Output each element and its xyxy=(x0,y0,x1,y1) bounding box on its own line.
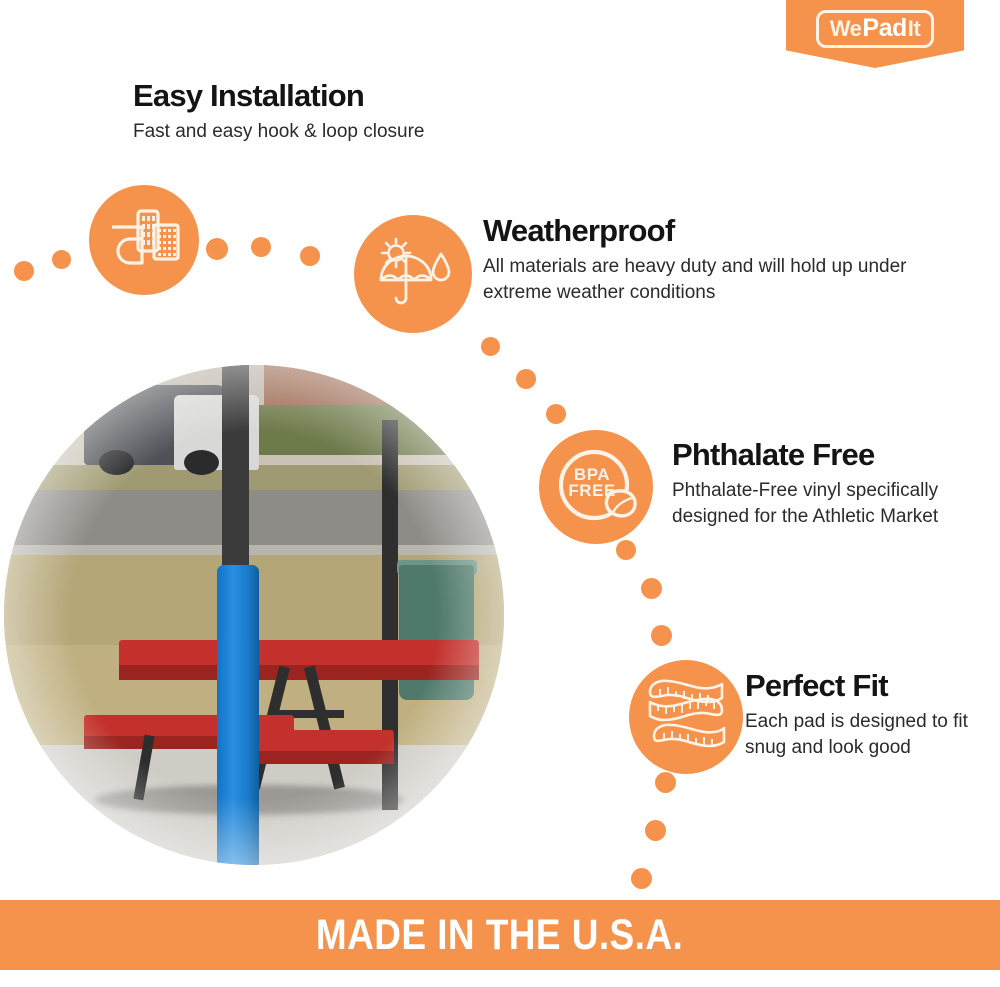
feature-heading-easy-installation: Easy Installation xyxy=(133,79,553,113)
feature-icon-circle-easy-installation xyxy=(89,185,199,295)
connector-dot xyxy=(481,337,500,356)
connector-dot xyxy=(616,540,636,560)
connector-dot xyxy=(14,261,34,281)
connector-dot xyxy=(631,868,652,889)
feature-text-phthalate-free: Phthalate Free Phthalate-Free vinyl spec… xyxy=(672,438,972,529)
feature-text-weatherproof: Weatherproof All materials are heavy dut… xyxy=(483,214,913,305)
bpa-free-icon-label-line2: FREE xyxy=(568,481,615,500)
brand-logo-banner: We Pad It xyxy=(786,0,964,68)
logo-text-it: It xyxy=(908,18,920,40)
feature-icon-circle-weatherproof xyxy=(354,215,472,333)
connector-dot xyxy=(52,250,71,269)
connector-dot xyxy=(655,772,676,793)
feature-subtitle-weatherproof: All materials are heavy duty and will ho… xyxy=(483,254,913,305)
feature-text-perfect-fit: Perfect Fit Each pad is designed to fit … xyxy=(745,669,985,760)
made-in-usa-banner: MADE IN THE U.S.A. xyxy=(0,900,1000,970)
connector-dot xyxy=(300,246,320,266)
connector-dot xyxy=(641,578,662,599)
feature-subtitle-phthalate-free: Phthalate-Free vinyl specifically design… xyxy=(672,478,972,529)
feature-icon-circle-phthalate-free: BPA FREE xyxy=(539,430,653,544)
logo-text-pad: Pad xyxy=(861,16,907,41)
infographic-page: We Pad It Easy Installation Fast and eas… xyxy=(0,0,1000,987)
feature-icon-circle-perfect-fit xyxy=(629,660,743,774)
connector-dot xyxy=(516,369,536,389)
made-in-usa-text: MADE IN THE U.S.A. xyxy=(316,911,683,960)
logo-text-we: We xyxy=(830,18,862,40)
tape-measure-icon xyxy=(644,676,728,759)
connector-dot xyxy=(651,625,672,646)
photo-edge-vignette xyxy=(4,365,504,865)
product-photo xyxy=(4,365,504,865)
sun-umbrella-raindrop-icon xyxy=(373,236,453,313)
feature-heading-perfect-fit: Perfect Fit xyxy=(745,669,985,703)
feature-subtitle-easy-installation: Fast and easy hook & loop closure xyxy=(133,119,553,144)
hook-and-loop-strap-icon xyxy=(108,207,180,274)
connector-dot xyxy=(546,404,566,424)
feature-heading-phthalate-free: Phthalate Free xyxy=(672,438,972,472)
connector-dot xyxy=(251,237,271,257)
feature-heading-weatherproof: Weatherproof xyxy=(483,214,913,248)
feature-subtitle-perfect-fit: Each pad is designed to fit snug and loo… xyxy=(745,709,985,760)
bpa-free-leaf-icon: BPA FREE xyxy=(552,443,640,531)
bpa-free-icon-label: BPA FREE xyxy=(552,467,632,500)
connector-dot xyxy=(206,238,228,260)
feature-text-easy-installation: Easy Installation Fast and easy hook & l… xyxy=(133,79,553,145)
connector-dot xyxy=(645,820,666,841)
brand-logo: We Pad It xyxy=(816,10,934,48)
